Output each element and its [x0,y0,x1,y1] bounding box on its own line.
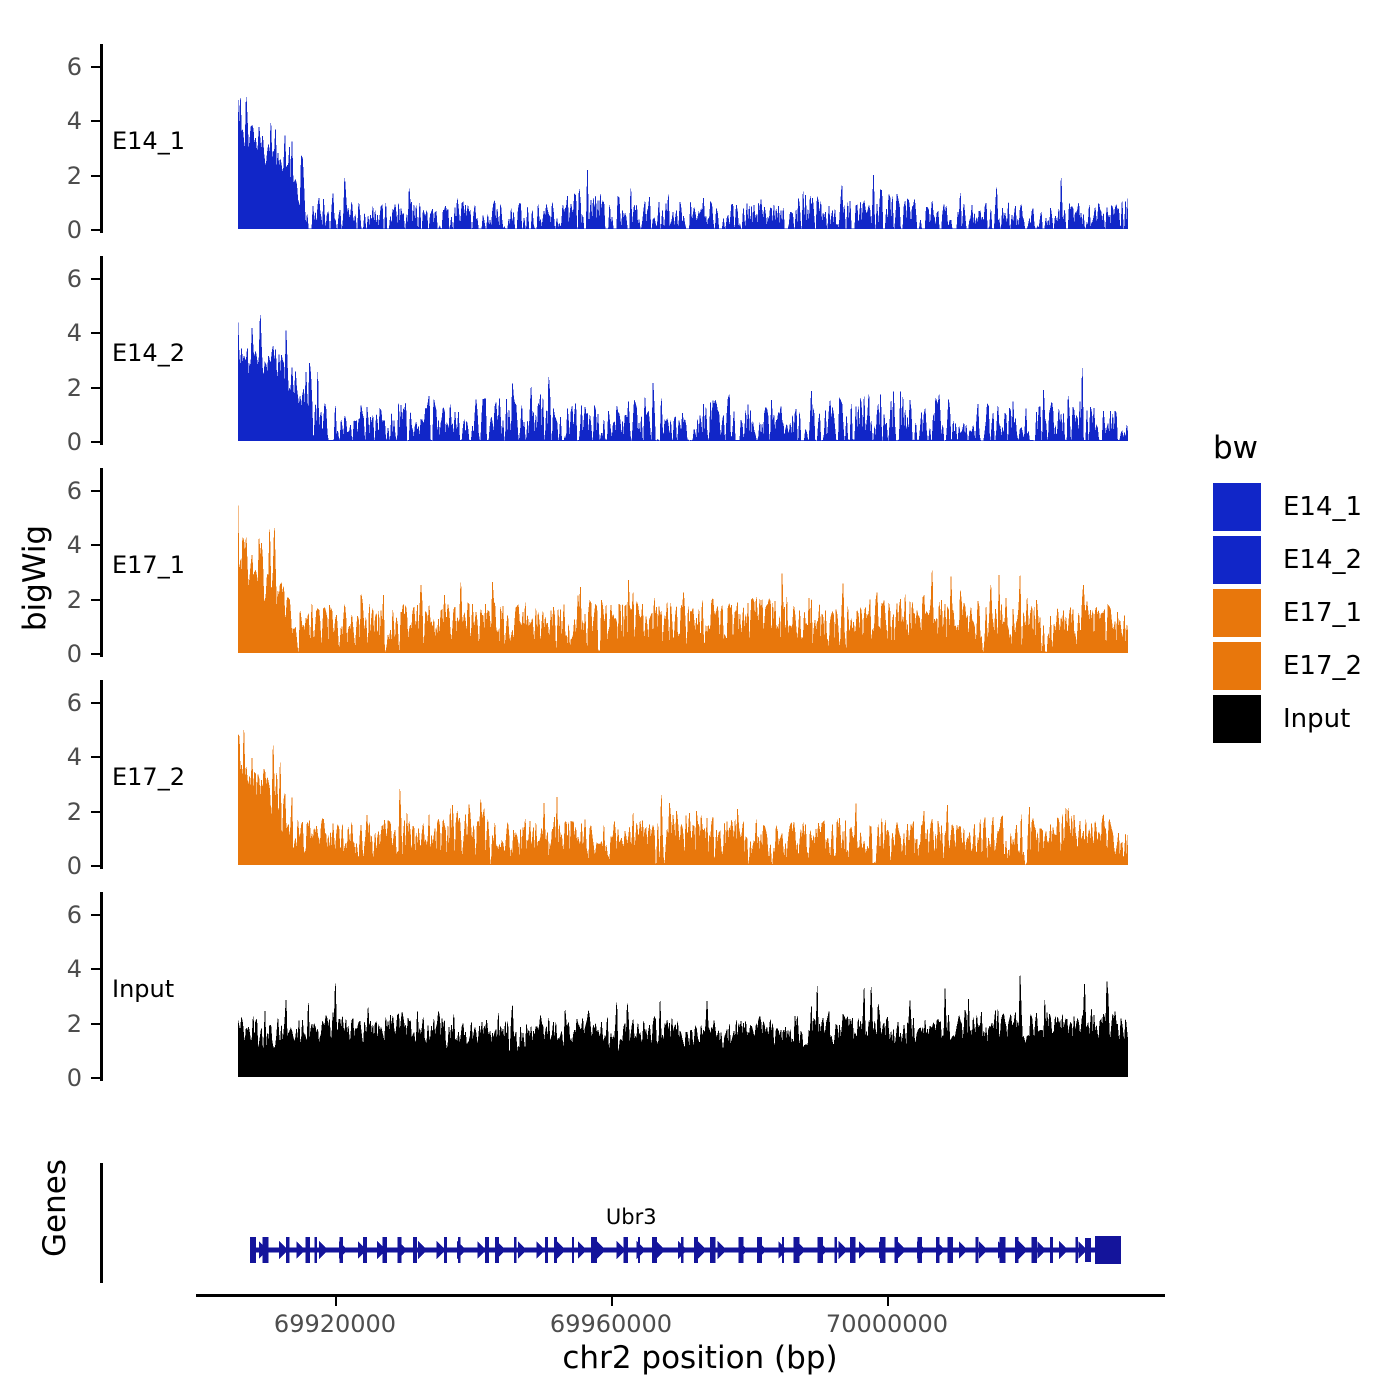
y-tick-label: 6 [22,53,82,81]
y-axis-line [100,892,103,1081]
signal-area-e17_1 [238,468,1128,653]
y-tick-label: 4 [22,531,82,559]
legend-title: bw [1213,430,1362,466]
legend-swatch-input [1213,695,1261,743]
y-tick [91,702,100,704]
legend-label: E14_2 [1283,545,1362,575]
y-tick-label: 4 [22,955,82,983]
x-tick-label: 69960000 [550,1310,672,1338]
y-tick [91,865,100,867]
legend-item-e17_1[interactable]: E17_1 [1213,586,1362,639]
track-label-e14_2: E14_2 [112,339,185,367]
legend: bw E14_1E14_2E17_1E17_2Input [1213,430,1362,745]
track-label-e17_2: E17_2 [112,763,185,791]
legend-swatch-e17_2 [1213,642,1261,690]
y-tick [91,1077,100,1079]
legend-swatch-e17_1 [1213,589,1261,637]
y-axis-line [100,468,103,657]
gene-model-ubr3[interactable] [250,1233,1123,1267]
y-tick [91,653,100,655]
y-tick [91,490,100,492]
y-tick [91,66,100,68]
legend-label: E17_2 [1283,651,1362,681]
y-tick-label: 0 [22,640,82,668]
y-tick [91,968,100,970]
legend-swatch-e14_1 [1213,483,1261,531]
y-tick-label: 6 [22,265,82,293]
y-tick [91,756,100,758]
y-tick-label: 0 [22,852,82,880]
legend-item-e17_2[interactable]: E17_2 [1213,639,1362,692]
y-tick [91,175,100,177]
y-tick-label: 4 [22,743,82,771]
genes-panel: Ubr3 [0,0,1400,1]
legend-label: E17_1 [1283,598,1362,628]
y-tick [91,278,100,280]
x-tick [887,1297,889,1306]
y-tick-label: 6 [22,901,82,929]
genes-panel-title: Genes [37,1148,73,1268]
x-tick [335,1297,337,1306]
x-tick-label: 70000000 [826,1310,948,1338]
track-label-e17_1: E17_1 [112,551,185,579]
y-tick [91,914,100,916]
y-tick-label: 2 [22,1010,82,1038]
y-axis-title: bigWig [17,498,53,658]
y-tick [91,811,100,813]
y-tick-label: 2 [22,374,82,402]
y-tick [91,120,100,122]
x-axis-line [196,1294,1165,1297]
y-axis-line [100,680,103,869]
y-tick-label: 0 [22,1064,82,1092]
y-tick-label: 4 [22,107,82,135]
gene-name-label: Ubr3 [606,1205,657,1229]
track-label-input: Input [112,975,174,1003]
genes-axis-line [100,1163,103,1283]
signal-area-e14_2 [238,256,1128,441]
y-tick [91,441,100,443]
y-tick-label: 2 [22,798,82,826]
y-tick-label: 6 [22,477,82,505]
legend-item-input[interactable]: Input [1213,692,1362,745]
y-tick [91,332,100,334]
y-tick-label: 0 [22,428,82,456]
y-tick-label: 6 [22,689,82,717]
y-tick [91,1023,100,1025]
x-tick [611,1297,613,1306]
legend-item-e14_1[interactable]: E14_1 [1213,480,1362,533]
y-tick [91,599,100,601]
y-tick [91,387,100,389]
signal-area-e14_1 [238,44,1128,229]
x-axis-title: chr2 position (bp) [0,1340,1400,1376]
y-tick [91,544,100,546]
x-tick-label: 69920000 [274,1310,396,1338]
legend-item-e14_2[interactable]: E14_2 [1213,533,1362,586]
signal-area-e17_2 [238,680,1128,865]
y-axis-line [100,256,103,445]
y-axis-line [100,44,103,233]
y-tick-label: 4 [22,319,82,347]
y-tick-label: 2 [22,586,82,614]
y-tick-label: 0 [22,216,82,244]
y-tick [91,229,100,231]
legend-label: E14_1 [1283,492,1362,522]
legend-swatch-e14_2 [1213,536,1261,584]
y-tick-label: 2 [22,162,82,190]
track-label-e14_1: E14_1 [112,127,185,155]
legend-label: Input [1283,704,1350,734]
legend-items: E14_1E14_2E17_1E17_2Input [1213,480,1362,745]
signal-area-input [238,892,1128,1077]
